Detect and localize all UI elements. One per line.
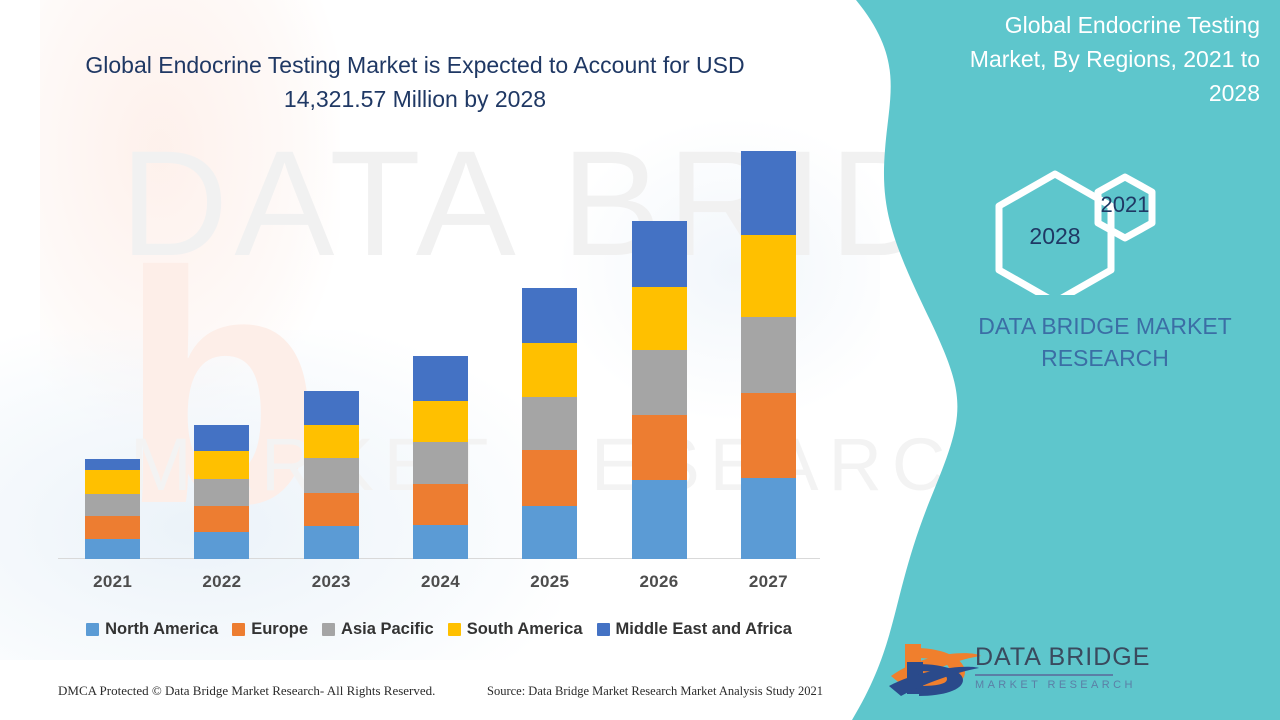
- bar-segment: [522, 450, 577, 506]
- legend-label: Middle East and Africa: [616, 620, 792, 639]
- bar-segment: [194, 425, 249, 452]
- bar-column-2025: [522, 288, 577, 559]
- x-axis-labels: 2021202220232024202520262027: [58, 572, 823, 602]
- x-axis-tick-2024: 2024: [396, 572, 486, 592]
- bar-segment: [304, 526, 359, 559]
- x-axis-tick-2026: 2026: [614, 572, 704, 592]
- x-axis-tick-2021: 2021: [68, 572, 158, 592]
- x-axis-tick-2022: 2022: [177, 572, 267, 592]
- bar-segment: [413, 401, 468, 442]
- bar-column-2027: [741, 151, 796, 559]
- bar-segment: [413, 356, 468, 401]
- bar-segment: [85, 470, 140, 495]
- bar-segment: [194, 479, 249, 506]
- hexagon-label-2021: 2021: [1069, 192, 1181, 218]
- logo-wordmark: DATA BRIDGE MARKET RESEARCH: [975, 643, 1150, 691]
- chart-legend: North AmericaEuropeAsia PacificSouth Ame…: [54, 616, 824, 642]
- legend-item[interactable]: North America: [86, 620, 218, 639]
- copyright-notice: DMCA Protected © Data Bridge Market Rese…: [58, 683, 435, 699]
- legend-item[interactable]: Middle East and Africa: [597, 620, 792, 639]
- logo-divider: [975, 674, 1113, 676]
- bar-segment: [741, 393, 796, 478]
- bar-segment: [522, 343, 577, 397]
- chart-title: Global Endocrine Testing Market is Expec…: [60, 48, 770, 116]
- legend-swatch-icon: [232, 623, 245, 636]
- bar-segment: [304, 493, 359, 526]
- bar-segment: [304, 458, 359, 492]
- bar-segment: [413, 442, 468, 484]
- chart-plot-area: [58, 150, 823, 559]
- bar-segment: [85, 539, 140, 559]
- source-note: Source: Data Bridge Market Research Mark…: [487, 684, 823, 699]
- x-axis-tick-2023: 2023: [286, 572, 376, 592]
- x-axis-tick-2027: 2027: [723, 572, 813, 592]
- legend-label: Europe: [251, 620, 308, 639]
- bar-segment: [632, 350, 687, 414]
- bar-segment: [522, 506, 577, 559]
- brand-heading: DATA BRIDGE MARKET RESEARCH: [940, 310, 1270, 374]
- bar-segment: [85, 459, 140, 470]
- x-axis-tick-2025: 2025: [505, 572, 595, 592]
- bar-segment: [632, 415, 687, 480]
- legend-swatch-icon: [322, 623, 335, 636]
- bar-segment: [522, 397, 577, 450]
- hexagon-group: 2021 2028: [985, 145, 1185, 295]
- bar-segment: [632, 287, 687, 350]
- bar-segment: [304, 391, 359, 425]
- bar-segment: [194, 532, 249, 559]
- logo-primary-text: DATA BRIDGE: [975, 643, 1150, 672]
- bar-segment: [741, 235, 796, 317]
- bar-segment: [522, 288, 577, 342]
- bar-segment: [741, 317, 796, 392]
- bar-segment: [413, 525, 468, 559]
- bar-segment: [194, 506, 249, 533]
- panel-title: Global Endocrine Testing Market, By Regi…: [930, 8, 1260, 110]
- legend-label: North America: [105, 620, 218, 639]
- legend-label: South America: [467, 620, 583, 639]
- bar-segment: [632, 221, 687, 288]
- hexagon-shapes: [985, 145, 1185, 295]
- bar-segment: [741, 151, 796, 235]
- bar-segment: [85, 494, 140, 516]
- legend-item[interactable]: Asia Pacific: [322, 620, 434, 639]
- bar-column-2021: [85, 459, 140, 559]
- bar-segment: [632, 480, 687, 559]
- bar-column-2026: [632, 221, 687, 559]
- bar-column-2023: [304, 391, 359, 559]
- logo-secondary-text: MARKET RESEARCH: [975, 679, 1150, 691]
- legend-swatch-icon: [448, 623, 461, 636]
- bar-segment: [741, 478, 796, 559]
- legend-swatch-icon: [597, 623, 610, 636]
- bar-column-2024: [413, 356, 468, 559]
- bar-segment: [194, 451, 249, 479]
- bar-segment: [413, 484, 468, 525]
- infographic-canvas: b DATA BRIDGE MARKET RESEARCH Global End…: [0, 0, 1280, 720]
- bar-segment: [304, 425, 359, 458]
- bar-column-2022: [194, 425, 249, 559]
- hexagon-label-2028: 2028: [955, 223, 1155, 250]
- bar-segment: [85, 516, 140, 538]
- legend-item[interactable]: South America: [448, 620, 583, 639]
- legend-label: Asia Pacific: [341, 620, 434, 639]
- legend-swatch-icon: [86, 623, 99, 636]
- legend-item[interactable]: Europe: [232, 620, 308, 639]
